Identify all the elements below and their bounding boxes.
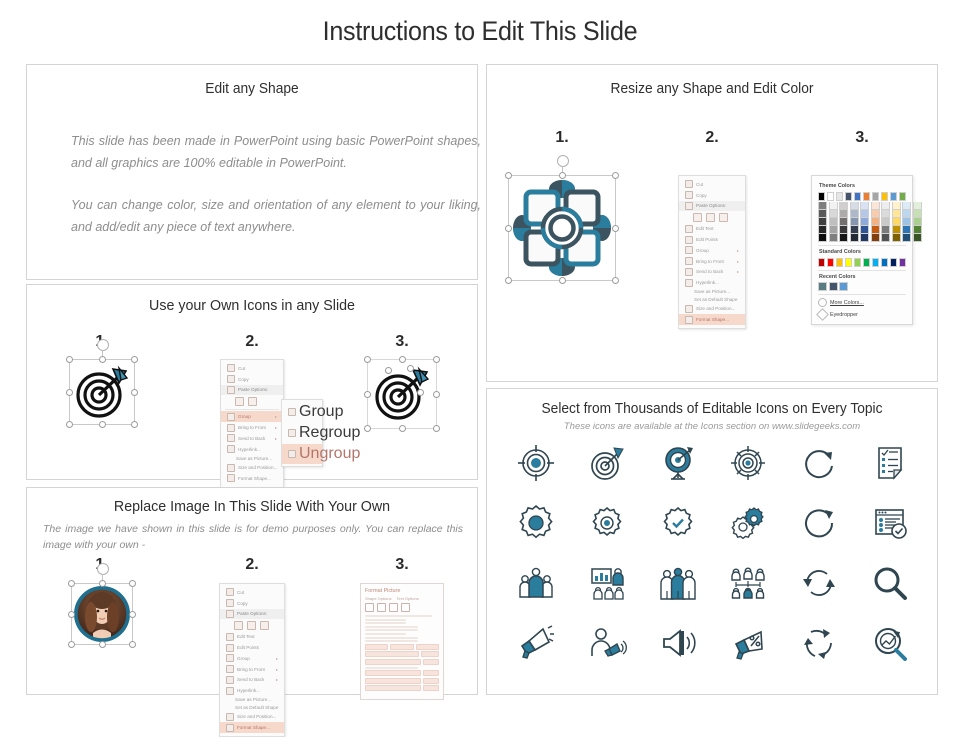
theme-tint-6-3[interactable] <box>881 226 890 234</box>
rotate-handle[interactable] <box>557 155 569 167</box>
panel-title: Edit any Shape <box>38 81 466 97</box>
copy-icon <box>685 191 693 199</box>
color-picker-panel[interactable]: Theme Colors Standard Colors Recent Colo… <box>811 175 913 325</box>
rotate-handle[interactable] <box>97 563 109 575</box>
theme-tint-column-3[interactable] <box>850 202 859 242</box>
theme-tint-3-1[interactable] <box>850 210 859 218</box>
replace-image-figure-3: Format Picture Shape Options Text Option… <box>327 583 477 700</box>
step-number-3: 3. <box>327 333 477 351</box>
menu-item-paste-options[interactable]: Paste Options: <box>221 385 283 396</box>
org-chart-icon[interactable] <box>713 561 784 605</box>
edit-text-icon <box>226 633 234 641</box>
theme-color-swatch-1[interactable] <box>827 192 834 201</box>
refresh-clockwise-icon[interactable] <box>784 441 855 485</box>
bring-to-front-icon <box>226 665 234 673</box>
panel-title: Resize any Shape and Edit Color <box>498 81 926 97</box>
magnifier-icon[interactable] <box>854 561 925 605</box>
standard-color-swatch-0[interactable] <box>818 258 825 267</box>
own-icons-figure-1 <box>27 359 177 425</box>
theme-tint-4-2[interactable] <box>860 218 869 226</box>
theme-tint-0-2[interactable] <box>818 218 827 226</box>
panel-resize-any-shape: Resize any Shape and Edit Color 1. 2. 3. <box>486 64 938 382</box>
menu-item-save-as-picture[interactable]: Save as Picture... <box>679 288 745 296</box>
theme-tint-column-0[interactable] <box>818 202 827 242</box>
paste-option-buttons[interactable] <box>221 395 283 407</box>
submenu-item-regroup[interactable]: Regroup <box>282 423 322 444</box>
theme-tint-0-4[interactable] <box>818 234 827 242</box>
size-properties-icon <box>389 603 398 612</box>
hyperlink-icon <box>227 445 235 453</box>
own-icons-figure-3 <box>327 359 477 429</box>
menu-item-hyperlink[interactable]: Hyperlink... <box>221 444 283 455</box>
theme-color-swatch-3[interactable] <box>845 192 852 201</box>
menu-item-group[interactable]: Group▸ <box>220 653 284 664</box>
paste-icon <box>227 386 235 394</box>
presentation-training-icon[interactable] <box>572 561 643 605</box>
theme-tint-7-0[interactable] <box>892 202 901 210</box>
paste-option-buttons[interactable] <box>220 619 284 631</box>
speaker-icon[interactable] <box>642 621 713 665</box>
paste-picture-icon <box>248 397 257 406</box>
gear-ring-icon[interactable] <box>572 501 643 545</box>
recent-color-swatch-1[interactable] <box>829 282 838 291</box>
hyperlink-icon <box>226 687 234 695</box>
theme-tint-1-3[interactable] <box>829 226 838 234</box>
menu-item-cut[interactable]: Cut <box>220 587 284 598</box>
format-picture-task-pane[interactable]: Format Picture Shape Options Text Option… <box>360 583 444 700</box>
effects-icon <box>377 603 386 612</box>
standard-color-swatch-3[interactable] <box>845 258 852 267</box>
step-numbers: 1. 2. 3. <box>27 333 477 351</box>
target-crosshair-icon[interactable] <box>501 441 572 485</box>
theme-tint-column-8[interactable] <box>902 202 911 242</box>
menu-item-bring-to-front[interactable]: Bring to Front▸ <box>220 664 284 675</box>
theme-tint-column-2[interactable] <box>839 202 848 242</box>
menu-item-bring-to-front[interactable]: Bring to Front▸ <box>679 256 745 267</box>
step-numbers: 1. 2. 3. <box>27 556 477 574</box>
menu-item-hyperlink[interactable]: Hyperlink... <box>220 685 284 696</box>
cut-icon <box>226 588 234 596</box>
paste-picture-icon <box>260 621 269 630</box>
menu-item-size-and-position[interactable]: Size and Position... <box>221 462 283 473</box>
group-submenu[interactable]: Group Regroup Ungroup <box>281 399 323 467</box>
theme-tint-5-3[interactable] <box>871 226 880 234</box>
circular-portrait-photo-selected[interactable] <box>71 583 133 645</box>
theme-color-swatch-6[interactable] <box>872 192 879 201</box>
theme-tint-9-1[interactable] <box>913 210 922 218</box>
rotate-handle[interactable] <box>97 339 109 351</box>
theme-tint-2-3[interactable] <box>839 226 848 234</box>
step-number-1: 1. <box>487 129 637 147</box>
theme-tint-column-9[interactable] <box>913 202 922 242</box>
menu-item-hyperlink[interactable]: Hyperlink... <box>679 277 745 288</box>
menu-item-size-and-position[interactable]: Size and Position... <box>220 712 284 723</box>
theme-tint-2-1[interactable] <box>839 210 848 218</box>
paste-keep-formatting-icon <box>234 621 243 630</box>
checklist-document-icon[interactable] <box>854 441 925 485</box>
theme-tint-3-3[interactable] <box>850 226 859 234</box>
theme-tint-1-2[interactable] <box>829 218 838 226</box>
standard-color-swatch-2[interactable] <box>836 258 843 267</box>
menu-item-set-default-shape[interactable]: Set as Default Shape <box>220 704 284 712</box>
regroup-icon <box>288 429 296 437</box>
paste-keep-formatting-icon <box>693 213 702 222</box>
theme-tint-3-4[interactable] <box>850 234 859 242</box>
ungroup-icon <box>288 450 296 458</box>
own-icons-figure-2: Cut Copy Paste Options: Group▸ Bring to … <box>177 359 327 488</box>
menu-item-bring-to-front[interactable]: Bring to Front▸ <box>221 422 283 433</box>
menu-item-cut[interactable]: Cut <box>679 179 745 190</box>
theme-tint-9-2[interactable] <box>913 218 922 226</box>
resize-figure-1 <box>487 175 637 281</box>
size-position-icon <box>685 305 693 313</box>
standard-color-swatch-4[interactable] <box>854 258 861 267</box>
page-title: Instructions to Edit This Slide <box>34 16 927 47</box>
menu-item-copy[interactable]: Copy <box>221 374 283 385</box>
menu-item-save-as-picture[interactable]: Save as Picture... <box>221 454 283 462</box>
menu-item-group[interactable]: Group▸ <box>221 411 283 422</box>
gears-pair-icon[interactable] <box>713 501 784 545</box>
menu-item-cut[interactable]: Cut <box>221 363 283 374</box>
panel-edit-any-shape: Edit any Shape This slide has been made … <box>26 64 478 280</box>
theme-tint-6-1[interactable] <box>881 210 890 218</box>
theme-tint-4-1[interactable] <box>860 210 869 218</box>
theme-color-swatch-5[interactable] <box>863 192 870 201</box>
theme-tint-5-2[interactable] <box>871 218 880 226</box>
replace-image-figure-1 <box>27 583 177 645</box>
format-pane-title: Format Picture <box>365 588 439 594</box>
recent-colors-row[interactable] <box>818 282 906 291</box>
gear-check-icon[interactable] <box>642 501 713 545</box>
menu-item-edit-points[interactable]: Edit Points <box>220 642 284 653</box>
theme-tint-0-3[interactable] <box>818 226 827 234</box>
group-icon <box>685 246 693 254</box>
menu-item-format-shape[interactable]: Format Shape... <box>220 722 284 733</box>
theme-tint-1-4[interactable] <box>829 234 838 242</box>
theme-tint-column-5[interactable] <box>871 202 880 242</box>
theme-tint-2-0[interactable] <box>839 202 848 210</box>
group-icon <box>288 408 296 416</box>
menu-item-edit-text[interactable]: Edit Text <box>220 631 284 642</box>
panel-title: Replace Image In This Slide With Your Ow… <box>38 498 466 515</box>
target-stand-icon[interactable] <box>642 441 713 485</box>
theme-color-swatch-0[interactable] <box>818 192 825 201</box>
format-pane-tabs[interactable]: Shape Options Text Options <box>365 596 439 601</box>
theme-tint-8-3[interactable] <box>902 226 911 234</box>
panel-use-your-own-icons: Use your Own Icons in any Slide 1. 2. 3. <box>26 284 478 480</box>
tab-shape-options[interactable]: Shape Options <box>365 596 391 601</box>
bring-to-front-icon <box>685 257 693 265</box>
menu-item-copy[interactable]: Copy <box>679 190 745 201</box>
edit-shape-paragraph-2: You can change color, size and orientati… <box>71 195 481 239</box>
menu-item-send-to-back[interactable]: Send to Back▸ <box>221 433 283 444</box>
context-menu-group-ungroup[interactable]: Cut Copy Paste Options: Group▸ Bring to … <box>220 359 284 488</box>
step-number-2: 2. <box>177 556 327 574</box>
eyedropper-icon <box>816 308 829 321</box>
standard-color-swatch-5[interactable] <box>863 258 870 267</box>
paste-icon <box>685 202 693 210</box>
recent-color-swatch-2[interactable] <box>839 282 848 291</box>
palette-icon <box>818 298 827 307</box>
step-number-2: 2. <box>637 129 787 147</box>
theme-tint-6-4[interactable] <box>881 234 890 242</box>
menu-item-edit-points[interactable]: Edit Points <box>679 234 745 245</box>
context-menu[interactable]: Cut Copy Paste Options: Group▸ Bring to … <box>220 359 284 488</box>
recent-colors-label: Recent Colors <box>819 274 906 280</box>
theme-tint-5-4[interactable] <box>871 234 880 242</box>
size-position-icon <box>227 464 235 472</box>
slide-canvas: Instructions to Edit This Slide Edit any… <box>0 0 960 720</box>
standard-colors-row[interactable] <box>818 258 906 267</box>
standard-color-swatch-6[interactable] <box>872 258 879 267</box>
megaphone-percent-icon[interactable] <box>713 621 784 665</box>
send-to-back-icon <box>226 676 234 684</box>
paste-keep-formatting-icon <box>235 397 244 406</box>
panel-subtitle: These icons are available at the Icons s… <box>487 421 937 432</box>
menu-item-paste-options[interactable]: Paste Options: <box>220 609 284 620</box>
theme-tint-8-2[interactable] <box>902 218 911 226</box>
theme-tint-3-2[interactable] <box>850 218 859 226</box>
resize-figure-3: Theme Colors Standard Colors Recent Colo… <box>787 175 937 325</box>
icon-grid <box>501 441 925 665</box>
theme-tint-6-2[interactable] <box>881 218 890 226</box>
recent-color-swatch-0[interactable] <box>818 282 827 291</box>
theme-color-swatch-2[interactable] <box>836 192 843 201</box>
dartboard-target-icon-ungrouped[interactable] <box>367 359 437 429</box>
paste-option-buttons[interactable] <box>679 211 745 223</box>
send-to-back-icon <box>227 434 235 442</box>
theme-tint-9-4[interactable] <box>913 234 922 242</box>
person-announce-icon[interactable] <box>572 621 643 665</box>
standard-color-swatch-8[interactable] <box>890 258 897 267</box>
theme-tint-2-2[interactable] <box>839 218 848 226</box>
step-numbers: 1. 2. 3. <box>487 129 937 147</box>
theme-tint-0-0[interactable] <box>818 202 827 210</box>
standard-color-swatch-7[interactable] <box>881 258 888 267</box>
step-number-3: 3. <box>327 556 477 574</box>
group-icon <box>227 413 235 421</box>
menu-item-copy[interactable]: Copy <box>220 598 284 609</box>
theme-tint-5-0[interactable] <box>871 202 880 210</box>
four-quadrant-shape-selected[interactable] <box>508 175 616 281</box>
standard-color-swatch-1[interactable] <box>827 258 834 267</box>
eyedropper-button[interactable]: Eyedropper <box>818 310 906 319</box>
copy-icon <box>227 375 235 383</box>
theme-tint-7-1[interactable] <box>892 210 901 218</box>
circular-arrows-icon[interactable] <box>784 621 855 665</box>
menu-item-paste-options[interactable]: Paste Options: <box>679 201 745 212</box>
people-group-icon[interactable] <box>501 561 572 605</box>
group-icon <box>226 654 234 662</box>
bring-to-front-icon <box>227 424 235 432</box>
menu-item-save-as-picture[interactable]: Save as Picture... <box>220 696 284 704</box>
theme-color-swatch-8[interactable] <box>890 192 897 201</box>
theme-tint-1-0[interactable] <box>829 202 838 210</box>
paste-picture-icon <box>719 213 728 222</box>
theme-color-tints[interactable] <box>818 202 906 242</box>
theme-tint-9-3[interactable] <box>913 226 922 234</box>
hyperlink-icon <box>685 279 693 287</box>
edit-text-icon <box>685 225 693 233</box>
crosshair-scope-icon[interactable] <box>713 441 784 485</box>
refresh-circle-icon[interactable] <box>784 501 855 545</box>
format-shape-icon <box>227 474 235 482</box>
context-menu-format-shape[interactable]: Cut Copy Paste Options: Edit Text Edit P… <box>678 175 746 329</box>
more-colors-button[interactable]: More Colors... <box>818 298 906 307</box>
theme-tint-0-1[interactable] <box>818 210 827 218</box>
theme-tint-column-1[interactable] <box>829 202 838 242</box>
edit-points-icon <box>226 644 234 652</box>
theme-tint-5-1[interactable] <box>871 210 880 218</box>
checklist-approved-icon[interactable] <box>854 501 925 545</box>
step-number-2: 2. <box>177 333 327 351</box>
edit-points-icon <box>685 236 693 244</box>
theme-color-swatch-7[interactable] <box>881 192 888 201</box>
theme-tint-4-4[interactable] <box>860 234 869 242</box>
theme-colors-label: Theme Colors <box>819 183 906 189</box>
menu-item-group[interactable]: Group▸ <box>679 245 745 256</box>
theme-tint-7-4[interactable] <box>892 234 901 242</box>
tab-text-options[interactable]: Text Options <box>396 596 418 601</box>
format-shape-icon <box>685 316 693 324</box>
menu-item-send-to-back[interactable]: Send to Back▸ <box>220 674 284 685</box>
context-menu-format-shape[interactable]: Cut Copy Paste Options: Edit Text Edit P… <box>219 583 285 737</box>
paste-merge-icon <box>247 621 256 630</box>
megaphone-icon[interactable] <box>501 621 572 665</box>
theme-tint-column-7[interactable] <box>892 202 901 242</box>
menu-item-send-to-back[interactable]: Send to Back▸ <box>679 266 745 277</box>
panel-title: Use your Own Icons in any Slide <box>38 297 466 314</box>
theme-tint-column-6[interactable] <box>881 202 890 242</box>
menu-item-edit-text[interactable]: Edit Text <box>679 223 745 234</box>
panel-title: Select from Thousands of Editable Icons … <box>498 401 926 417</box>
paste-merge-icon <box>706 213 715 222</box>
theme-tint-4-3[interactable] <box>860 226 869 234</box>
replace-image-subtitle: The image we have shown in this slide is… <box>43 521 463 554</box>
menu-item-format-shape[interactable]: Format Shape... <box>221 473 283 484</box>
gear-solid-icon[interactable] <box>501 501 572 545</box>
menu-item-set-default-shape[interactable]: Set as Default Shape <box>679 296 745 304</box>
standard-colors-label: Standard Colors <box>819 249 906 255</box>
panel-editable-icons-library: Select from Thousands of Editable Icons … <box>486 388 938 695</box>
theme-tint-column-4[interactable] <box>860 202 869 242</box>
panel-replace-image: Replace Image In This Slide With Your Ow… <box>26 487 478 695</box>
menu-item-size-and-position[interactable]: Size and Position... <box>679 304 745 315</box>
sync-arrows-icon[interactable] <box>784 561 855 605</box>
theme-tint-6-0[interactable] <box>881 202 890 210</box>
submenu-item-ungroup[interactable]: Ungroup <box>282 444 322 465</box>
theme-color-swatch-4[interactable] <box>854 192 861 201</box>
theme-tint-8-1[interactable] <box>902 210 911 218</box>
format-pane-icon-row[interactable] <box>365 603 439 612</box>
theme-colors-row[interactable] <box>818 192 906 201</box>
copy-icon <box>226 599 234 607</box>
team-trio-icon[interactable] <box>642 561 713 605</box>
theme-color-swatch-9[interactable] <box>899 192 906 201</box>
menu-item-format-shape[interactable]: Format Shape... <box>679 314 745 325</box>
theme-tint-1-1[interactable] <box>829 210 838 218</box>
paste-icon <box>226 610 234 618</box>
cut-icon <box>227 364 235 372</box>
send-to-back-icon <box>685 268 693 276</box>
theme-tint-9-0[interactable] <box>913 202 922 210</box>
submenu-item-group[interactable]: Group <box>282 402 322 423</box>
dartboard-target-icon-selected[interactable] <box>69 359 135 425</box>
theme-tint-8-4[interactable] <box>902 234 911 242</box>
picture-icon <box>401 603 410 612</box>
cut-icon <box>685 180 693 188</box>
theme-tint-7-3[interactable] <box>892 226 901 234</box>
theme-tint-7-2[interactable] <box>892 218 901 226</box>
dartboard-arrow-icon[interactable] <box>572 441 643 485</box>
magnifier-target-icon[interactable] <box>854 621 925 665</box>
step-number-3: 3. <box>787 129 937 147</box>
theme-tint-8-0[interactable] <box>902 202 911 210</box>
standard-color-swatch-9[interactable] <box>899 258 906 267</box>
replace-image-figure-2: Cut Copy Paste Options: Edit Text Edit P… <box>177 583 327 737</box>
theme-tint-3-0[interactable] <box>850 202 859 210</box>
edit-shape-paragraph-1: This slide has been made in PowerPoint u… <box>71 131 481 175</box>
resize-figure-2: Cut Copy Paste Options: Edit Text Edit P… <box>637 175 787 329</box>
format-shape-icon <box>226 724 234 732</box>
theme-tint-2-4[interactable] <box>839 234 848 242</box>
fill-line-icon <box>365 603 374 612</box>
theme-tint-4-0[interactable] <box>860 202 869 210</box>
